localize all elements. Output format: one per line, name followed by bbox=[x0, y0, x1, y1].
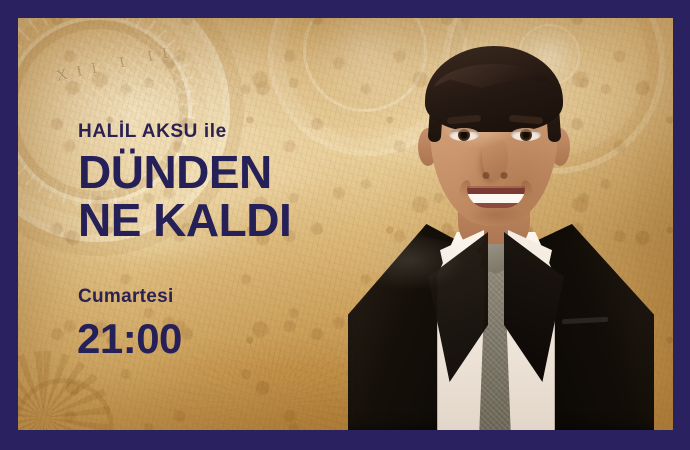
eyelid-left bbox=[449, 128, 479, 132]
broadcast-time: 21:00 bbox=[77, 315, 182, 363]
eyelid-right bbox=[511, 128, 541, 132]
frame-right bbox=[673, 0, 690, 450]
frame-bottom bbox=[0, 430, 690, 450]
broadcast-day: Cumartesi bbox=[78, 286, 174, 308]
frame-top bbox=[0, 0, 690, 18]
eye-right bbox=[511, 128, 541, 141]
program-title-line2: NE KALDI bbox=[78, 198, 291, 242]
presenter-photo bbox=[330, 18, 675, 430]
eye-left bbox=[449, 128, 479, 141]
suit-highlight bbox=[356, 232, 466, 302]
frame-left bbox=[0, 0, 18, 450]
tv-program-poster: XII I II bbox=[0, 0, 690, 450]
nostrils bbox=[480, 172, 510, 179]
program-title: DÜNDEN NE KALDI bbox=[78, 150, 291, 242]
program-title-line1: DÜNDEN bbox=[78, 146, 272, 198]
host-name: HALİL AKSU ile bbox=[78, 121, 227, 143]
chin bbox=[468, 204, 524, 226]
